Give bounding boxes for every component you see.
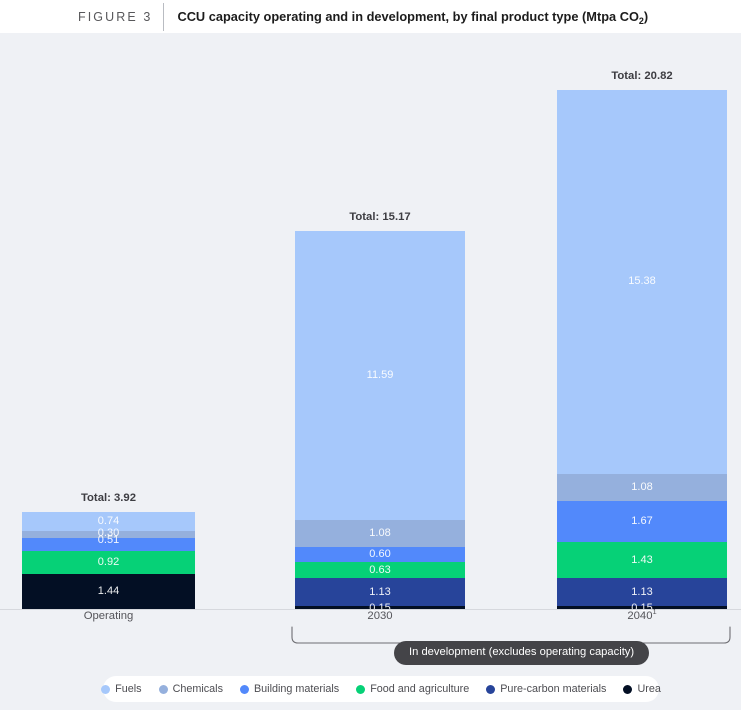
bar-segment-value: 15.38	[628, 276, 656, 287]
figure-container: FIGURE 3 CCU capacity operating and in d…	[0, 0, 741, 710]
legend-item[interactable]: Food and agriculture	[356, 683, 469, 695]
legend-item[interactable]: Fuels	[101, 683, 141, 695]
legend-swatch-icon	[101, 685, 110, 694]
figure-title-end: )	[644, 9, 648, 24]
legend-item[interactable]: Chemicals	[159, 683, 223, 695]
bar-segment[interactable]: 1.08	[295, 520, 465, 547]
bar-segment[interactable]: 0.92	[22, 551, 195, 574]
bar-segment[interactable]: 1.44	[22, 574, 195, 610]
header-divider	[163, 3, 164, 31]
bar-stack[interactable]: 15.381.081.671.431.130.15	[557, 90, 727, 610]
legend-item-label: Urea	[637, 683, 660, 695]
legend-item-label: Food and agriculture	[370, 683, 469, 695]
bar-segment-value: 0.63	[369, 565, 390, 576]
bar-group: Total: 3.920.740.300.510.921.44	[22, 33, 195, 610]
bar-segment[interactable]: 11.59	[295, 231, 465, 520]
page-title: CCU capacity operating and in developmen…	[177, 9, 648, 24]
figure-title-subscript: 2	[639, 16, 644, 26]
legend-swatch-icon	[356, 685, 365, 694]
bar-stack[interactable]: 0.740.300.510.921.44	[22, 512, 195, 610]
bar-segment-value: 0.92	[98, 557, 119, 568]
figure-header: FIGURE 3 CCU capacity operating and in d…	[0, 0, 741, 33]
legend-item[interactable]: Urea	[623, 683, 660, 695]
bar-segment[interactable]: 0.63	[295, 562, 465, 578]
legend-item-label: Chemicals	[173, 683, 223, 695]
bar-total-label: Total: 15.17	[295, 211, 465, 223]
bar-segment-value: 1.43	[631, 555, 652, 566]
chart-legend: FuelsChemicalsBuilding materialsFood and…	[103, 676, 659, 702]
bar-segment[interactable]: 0.51	[22, 538, 195, 551]
bar-segment-value: 1.08	[631, 482, 652, 493]
legend-item[interactable]: Building materials	[240, 683, 339, 695]
legend-item[interactable]: Pure-carbon materials	[486, 683, 606, 695]
bar-segment[interactable]: 1.08	[557, 474, 727, 501]
bar-stack[interactable]: 11.591.080.600.631.130.15	[295, 231, 465, 610]
bar-group: Total: 15.1711.591.080.600.631.130.15	[295, 33, 465, 610]
bar-segment-value: 1.67	[631, 516, 652, 527]
footnote-marker: 1	[652, 607, 656, 616]
bar-segment[interactable]: 0.60	[295, 547, 465, 562]
x-axis-label-2040: 20401	[557, 610, 727, 622]
bar-segment-value: 1.44	[98, 586, 119, 597]
bar-segment[interactable]: 15.38	[557, 90, 727, 474]
bar-segment-value: 1.08	[369, 528, 390, 539]
figure-title-main: CCU capacity operating and in developmen…	[177, 9, 638, 24]
legend-swatch-icon	[623, 685, 632, 694]
bar-segment-value: 0.74	[98, 516, 119, 527]
bar-segment[interactable]: 1.43	[557, 542, 727, 578]
figure-number-label: FIGURE 3	[78, 10, 152, 24]
legend-item-label: Building materials	[254, 683, 339, 695]
legend-item-label: Fuels	[115, 683, 141, 695]
bar-segment-value: 11.59	[367, 370, 394, 381]
chart-plot-area: Total: 3.920.740.300.510.921.44Total: 15…	[0, 33, 741, 610]
bar-group: Total: 20.8215.381.081.671.431.130.15	[557, 33, 727, 610]
bar-segment-value: 0.51	[98, 535, 119, 546]
bar-segment-value: 1.13	[631, 587, 652, 598]
bar-segment-value: 1.13	[369, 587, 390, 598]
legend-item-label: Pure-carbon materials	[500, 683, 606, 695]
bar-segment[interactable]: 1.67	[557, 501, 727, 543]
x-axis-label-2030: 2030	[295, 610, 465, 622]
bar-total-label: Total: 3.92	[22, 492, 195, 504]
bar-segment-value: 0.60	[369, 549, 390, 560]
x-axis-label-operating: Operating	[22, 610, 195, 622]
legend-swatch-icon	[159, 685, 168, 694]
bar-total-label: Total: 20.82	[557, 70, 727, 82]
legend-swatch-icon	[486, 685, 495, 694]
legend-swatch-icon	[240, 685, 249, 694]
in-development-label: In development (excludes operating capac…	[394, 641, 649, 665]
